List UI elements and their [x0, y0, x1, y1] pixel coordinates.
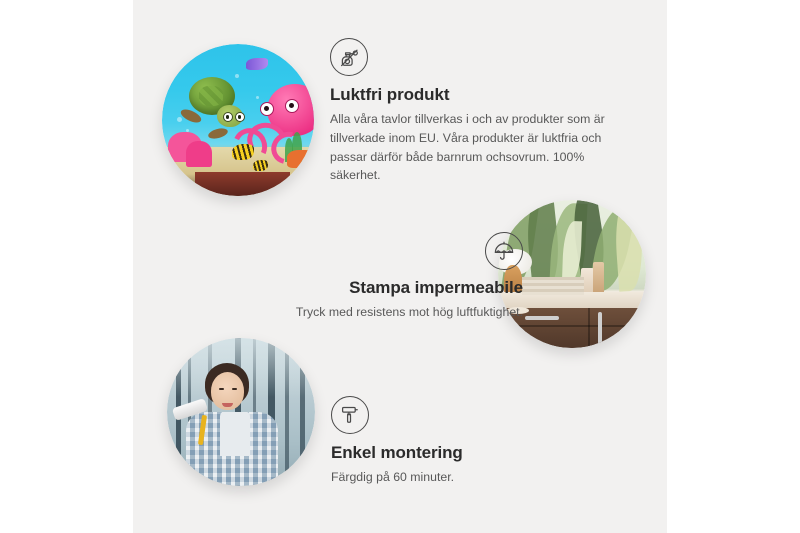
cabinet-divider — [588, 308, 590, 348]
feature-waterproof-description: Tryck med resistens mot hög luftfuktighe… — [193, 303, 523, 322]
feature-odorless: Luktfri produkt Alla våra tavlor tillver… — [330, 38, 630, 185]
starfish — [287, 150, 314, 168]
purple-fish-icon — [246, 58, 268, 70]
cabinet-handle[interactable] — [598, 312, 602, 348]
paint-roller-icon — [331, 396, 369, 434]
octopus-eye — [285, 99, 299, 113]
photo-ocean-inner — [162, 44, 314, 196]
backsplash-tiles — [522, 277, 584, 295]
feature-waterproof-icon-wrap — [193, 232, 523, 270]
photo-forest-inner — [167, 338, 315, 486]
photo-decorator-forest-wallpaper[interactable] — [167, 338, 315, 486]
content-panel: Luktfri produkt Alla våra tavlor tillver… — [133, 0, 667, 533]
drawer-handle[interactable] — [525, 316, 559, 320]
feature-assembly-description: Färgdig på 60 minuter. — [331, 468, 631, 487]
coral — [186, 141, 212, 167]
vanity-cabinet — [504, 308, 646, 348]
drawer-divider — [504, 325, 646, 327]
ocean-foreground-strip — [195, 172, 289, 196]
screenshot-canvas: Luktfri produkt Alla våra tavlor tillver… — [0, 0, 800, 533]
feature-waterproof: Stampa impermeabile Tryck med resistens … — [193, 232, 523, 322]
feature-odorless-title: Luktfri produkt — [330, 85, 630, 105]
no-spray-bottle-icon — [330, 38, 368, 76]
feature-odorless-description: Alla våra tavlor tillverkas i och av pro… — [330, 110, 630, 185]
feature-assembly-title: Enkel montering — [331, 443, 631, 463]
feature-odorless-icon-wrap — [330, 38, 630, 76]
feature-assembly-icon-wrap — [331, 396, 631, 434]
photo-underwater-cartoon-mural[interactable] — [162, 44, 314, 196]
feature-assembly: Enkel montering Färgdig på 60 minuter. — [331, 396, 631, 487]
bubble-icon — [256, 96, 259, 99]
feature-waterproof-title: Stampa impermeabile — [193, 278, 523, 298]
tropical-fish — [253, 160, 268, 171]
woman-undershirt — [220, 412, 250, 456]
umbrella-icon — [485, 232, 523, 270]
cabinet-handle[interactable] — [637, 312, 641, 348]
